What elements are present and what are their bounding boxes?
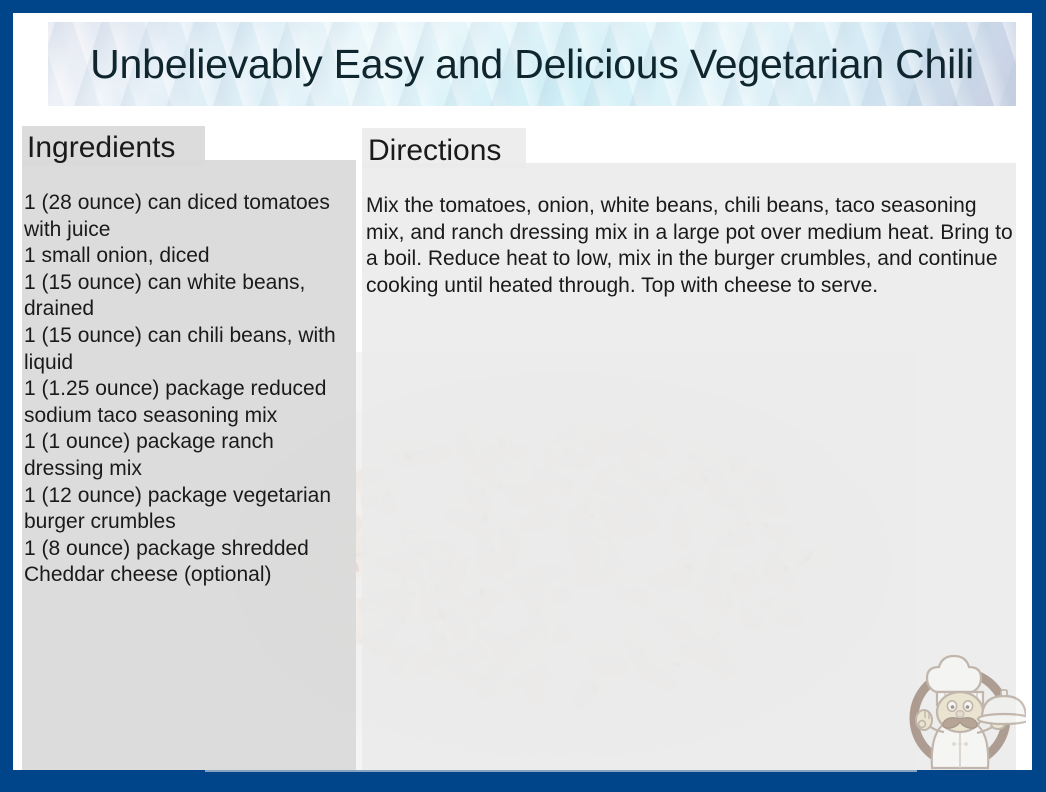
ingredient-item: 1 (8 ounce) package shredded Cheddar che… [24, 536, 354, 589]
frame-border-bottom [0, 770, 1046, 792]
chef-logo-svg [898, 640, 1026, 770]
ingredients-list: 1 (28 ounce) can diced tomatoes with jui… [24, 190, 354, 589]
ingredient-item: 1 (1.25 ounce) package reduced sodium ta… [24, 376, 354, 429]
frame-border-top [0, 0, 1046, 13]
recipe-card-page: Unbelievably Easy and Delicious Vegetari… [0, 0, 1046, 792]
frame-border-left [0, 0, 13, 792]
directions-body-text: Mix the tomatoes, onion, white beans, ch… [366, 193, 1014, 299]
ingredient-item: 1 (1 ounce) package ranch dressing mix [24, 429, 354, 482]
ingredient-item: 1 (15 ounce) can white beans, drained [24, 270, 354, 323]
ingredient-item: 1 (28 ounce) can diced tomatoes with jui… [24, 190, 354, 243]
recipe-title: Unbelievably Easy and Delicious Vegetari… [90, 41, 974, 88]
title-banner: Unbelievably Easy and Delicious Vegetari… [48, 22, 1016, 106]
ingredient-item: 1 (15 ounce) can chili beans, with liqui… [24, 323, 354, 376]
directions-heading: Directions [368, 134, 501, 168]
ingredients-heading: Ingredients [27, 131, 175, 165]
frame-border-right [1032, 0, 1046, 792]
ingredient-item: 1 (12 ounce) package vegetarian burger c… [24, 483, 354, 536]
ingredient-item: 1 small onion, diced [24, 243, 354, 270]
chef-mascot-logo [898, 640, 1026, 770]
